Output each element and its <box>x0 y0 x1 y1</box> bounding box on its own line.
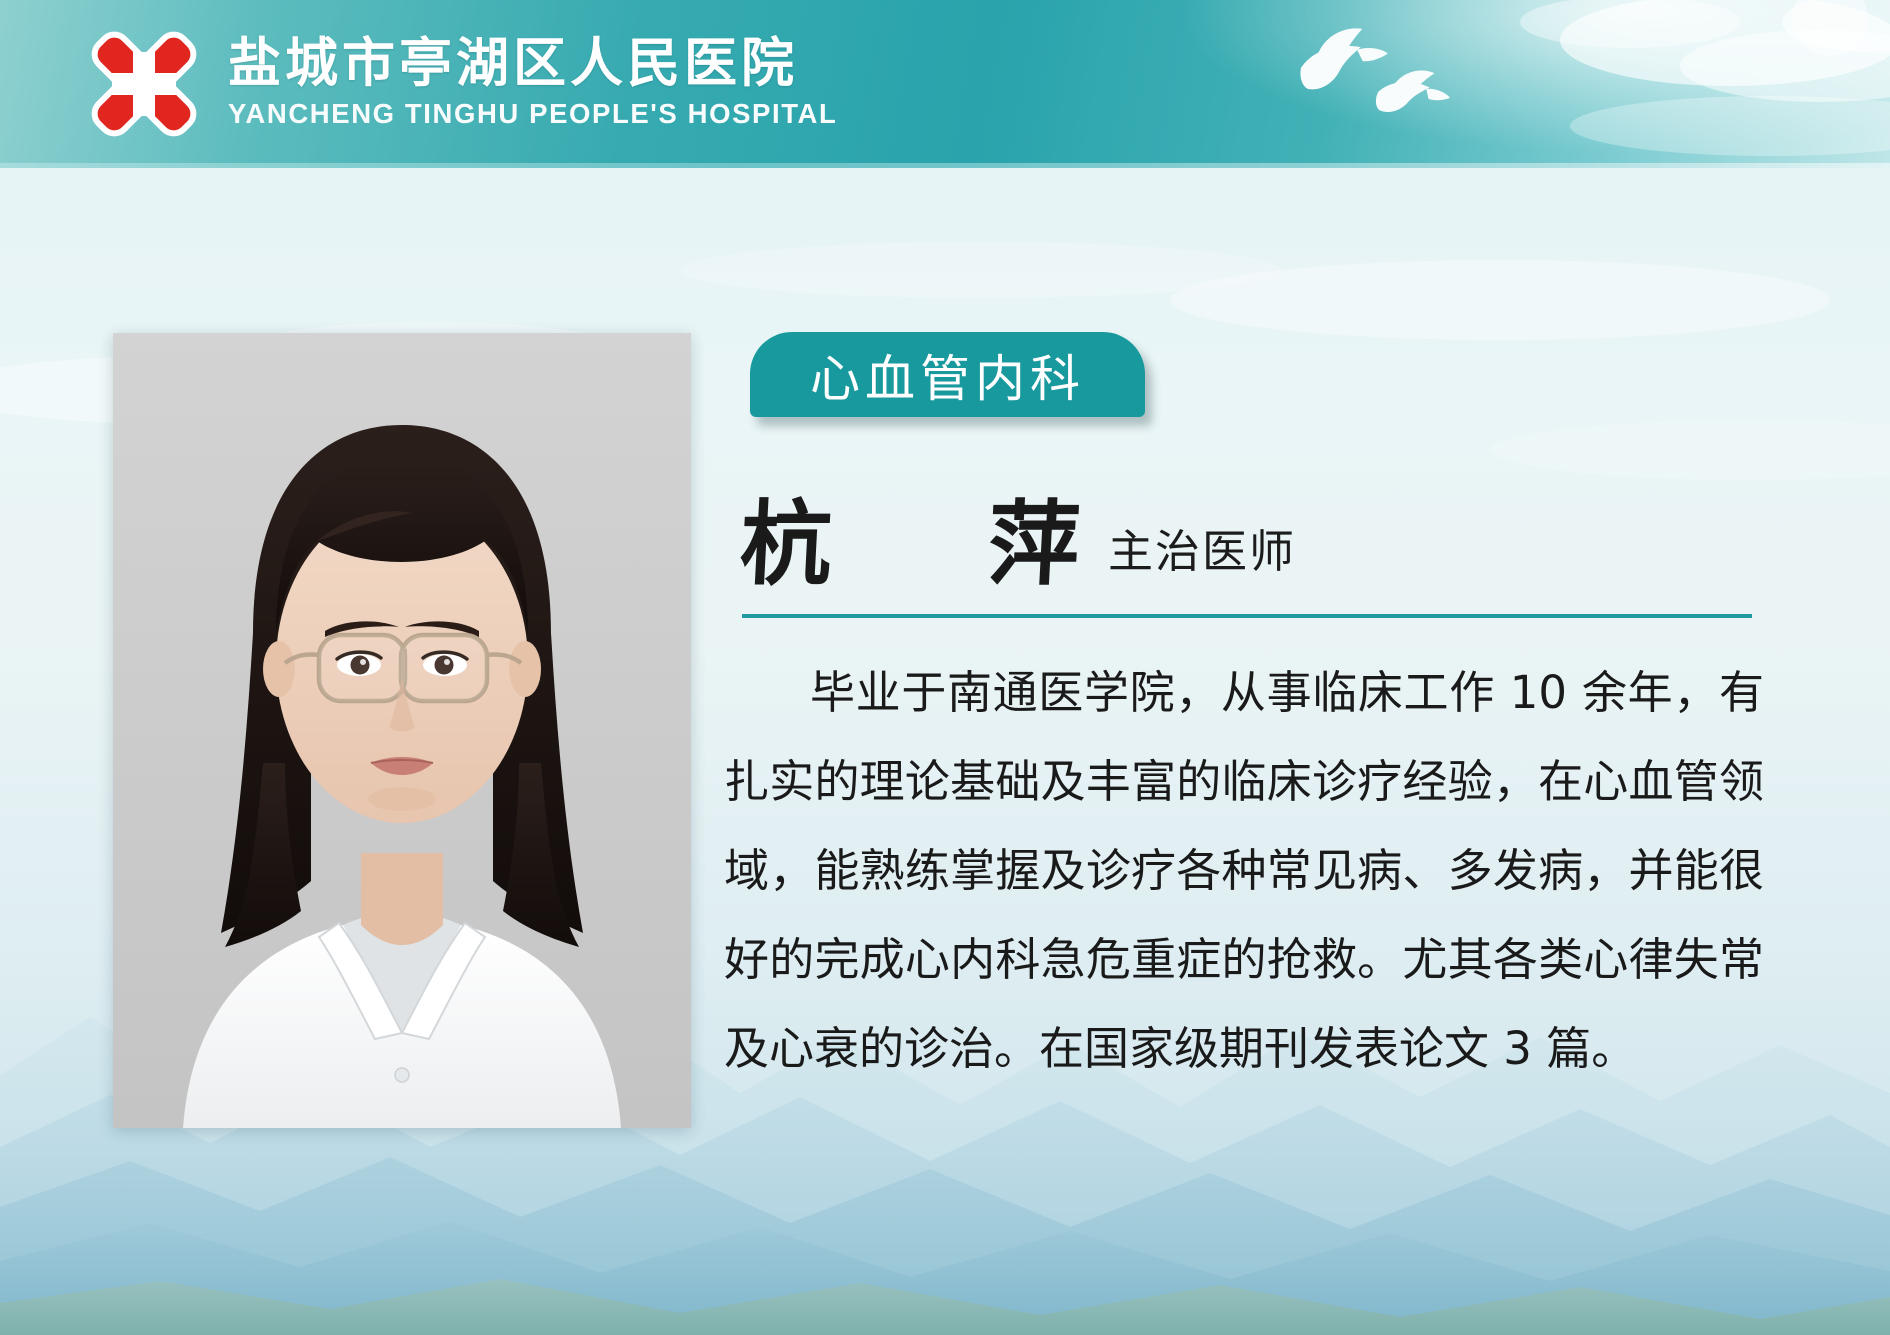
doctor-name: 杭 萍 <box>738 498 1145 590</box>
name-divider-rule <box>742 614 1752 618</box>
department-badge: 心血管内科 <box>750 332 1145 417</box>
doctor-profile-poster: 盐城市亭湖区人民医院 YANCHENG TINGHU PEOPLE'S HOSP… <box>0 0 1890 1335</box>
department-label: 心血管内科 <box>810 339 1085 411</box>
doctor-biography: 毕业于南通医学院，从事临床工作 10 余年，有扎实的理论基础及丰富的临床诊疗经验… <box>724 648 1764 1093</box>
doctor-info-column: 心血管内科 杭 萍 主治医师 毕业于南通医学院，从事临床工作 10 余年，有扎实… <box>740 0 1820 1335</box>
hospital-logo <box>88 28 200 140</box>
portrait-illustration <box>113 333 691 1128</box>
red-maltese-medical-cross-icon <box>88 28 200 140</box>
doctor-name-row: 杭 萍 主治医师 <box>740 498 1760 590</box>
doctor-portrait-photo <box>113 333 691 1128</box>
